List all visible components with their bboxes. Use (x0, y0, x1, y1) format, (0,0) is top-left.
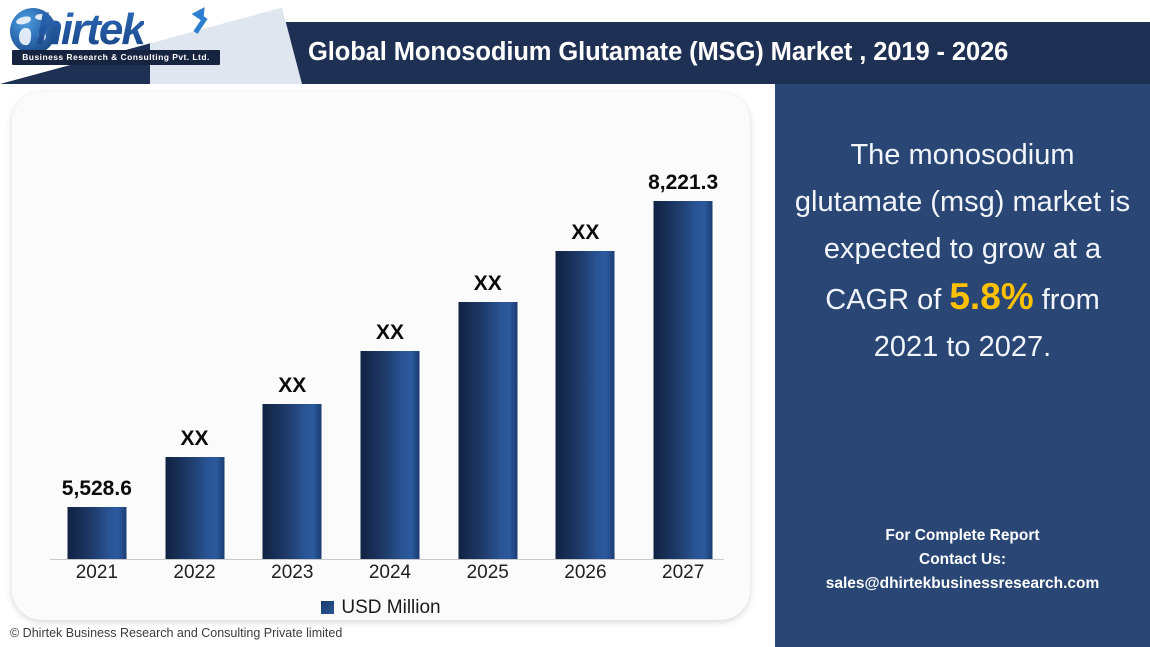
copyright-footer: © Dhirtek Business Research and Consulti… (10, 626, 342, 640)
contact-email[interactable]: sales@dhirtekbusinessresearch.com (783, 572, 1142, 596)
contact-block: For Complete Report Contact Us: sales@dh… (783, 524, 1142, 596)
logo-tagline: Business Research & Consulting Pvt. Ltd. (12, 50, 220, 65)
x-axis-label-2022: 2022 (147, 562, 243, 584)
chart-card: 5,528.6XXXXXXXXXX8,221.3 202120222023202… (12, 92, 750, 620)
bar-value-label-2024: XX (376, 321, 404, 345)
bar-column: XX (147, 423, 243, 559)
x-axis-line (50, 559, 724, 560)
page-title: Global Monosodium Glutamate (MSG) Market… (308, 38, 1146, 67)
bar-column: XX (244, 370, 340, 559)
bar-2024[interactable] (361, 351, 420, 559)
x-axis-labels: 2021202220232024202520262027 (40, 562, 724, 592)
x-axis-label-2025: 2025 (440, 562, 536, 584)
bar-2026[interactable] (556, 251, 615, 559)
bar-chart-plot-area: 5,528.6XXXXXXXXXX8,221.3 (40, 120, 724, 560)
bar-2027[interactable] (654, 201, 713, 559)
legend-swatch-usd-million (321, 601, 334, 614)
bar-column: XX (440, 268, 536, 559)
bar-value-label-2027: 8,221.3 (648, 171, 718, 195)
contact-line-1: For Complete Report (783, 524, 1142, 548)
bar-value-label-2025: XX (474, 272, 502, 296)
bar-2025[interactable] (458, 302, 517, 559)
bar-2021[interactable] (67, 507, 126, 559)
contact-line-2: Contact Us: (783, 548, 1142, 572)
bar-column: 5,528.6 (49, 473, 145, 559)
bar-value-label-2021: 5,528.6 (62, 477, 132, 501)
market-statement: The monosodium glutamate (msg) market is… (789, 132, 1136, 371)
growth-arrow-stem-icon (193, 16, 207, 34)
bar-column: XX (342, 317, 438, 559)
bar-value-label-2023: XX (278, 374, 306, 398)
bar-2023[interactable] (263, 404, 322, 559)
infographic-page: hirtek Business Research & Consulting Pv… (0, 0, 1150, 647)
legend-label-usd-million: USD Million (341, 597, 440, 619)
bar-value-label-2026: XX (571, 221, 599, 245)
x-axis-label-2023: 2023 (244, 562, 340, 584)
bar-column: XX (537, 217, 633, 559)
bar-2022[interactable] (165, 457, 224, 559)
x-axis-label-2027: 2027 (635, 562, 731, 584)
side-panel: The monosodium glutamate (msg) market is… (775, 84, 1150, 647)
x-axis-label-2021: 2021 (49, 562, 145, 584)
cagr-value: 5.8% (949, 276, 1033, 317)
bar-column: 8,221.3 (635, 167, 731, 559)
x-axis-label-2026: 2026 (537, 562, 633, 584)
header-banner: hirtek Business Research & Consulting Pv… (0, 0, 1150, 84)
company-logo[interactable]: hirtek Business Research & Consulting Pv… (6, 2, 236, 60)
chart-legend: USD Million (12, 597, 750, 619)
x-axis-label-2024: 2024 (342, 562, 438, 584)
bar-value-label-2022: XX (181, 427, 209, 451)
